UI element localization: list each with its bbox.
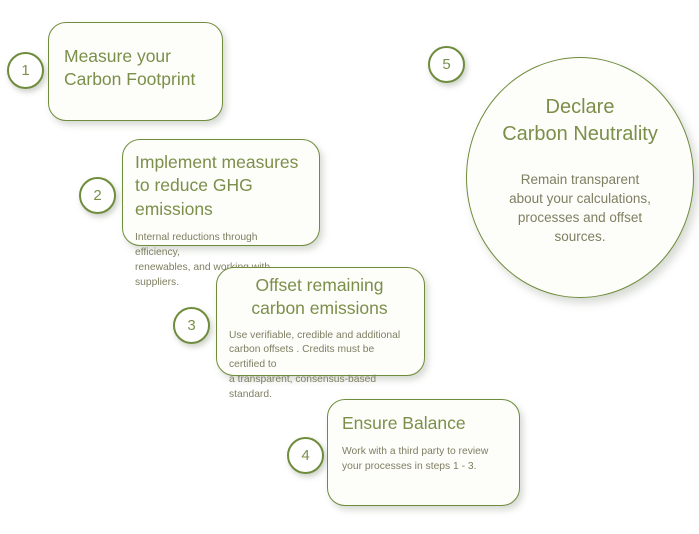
step-number-badge-3: 3 <box>173 307 210 344</box>
step-card-1-title: Measure your Carbon Footprint <box>64 45 208 92</box>
step-number-badge-4: 4 <box>287 437 324 474</box>
step-card-3: Offset remaining carbon emissions Use ve… <box>216 267 425 376</box>
step-card-4-content: Ensure Balance Work with a third party t… <box>328 400 519 475</box>
step-card-1-content: Measure your Carbon Footprint <box>49 23 222 92</box>
diagram-canvas: 1 Measure your Carbon Footprint 2 Implem… <box>0 0 699 534</box>
step-circle-5: Declare Carbon Neutrality Remain transpa… <box>466 57 694 298</box>
step-card-3-content: Offset remaining carbon emissions Use ve… <box>217 268 424 403</box>
step-card-3-body: Use verifiable, credible and additional … <box>229 329 410 404</box>
step-number-badge-1: 1 <box>7 52 44 89</box>
step-card-4-body: Work with a third party to review your p… <box>342 445 505 475</box>
step-circle-5-body: Remain transparent about your calculatio… <box>509 170 651 247</box>
step-number-badge-5: 5 <box>428 46 465 83</box>
step-card-3-title: Offset remaining carbon emissions <box>229 274 410 321</box>
step-number-badge-2: 2 <box>79 177 116 214</box>
step-circle-5-title: Declare Carbon Neutrality <box>502 94 658 148</box>
step-card-2: Implement measures to reduce GHG emissio… <box>122 139 320 246</box>
step-card-4-title: Ensure Balance <box>342 412 505 435</box>
step-card-1: Measure your Carbon Footprint <box>48 22 223 121</box>
step-card-2-title: Implement measures to reduce GHG emissio… <box>135 151 305 221</box>
step-card-4: Ensure Balance Work with a third party t… <box>327 399 520 506</box>
